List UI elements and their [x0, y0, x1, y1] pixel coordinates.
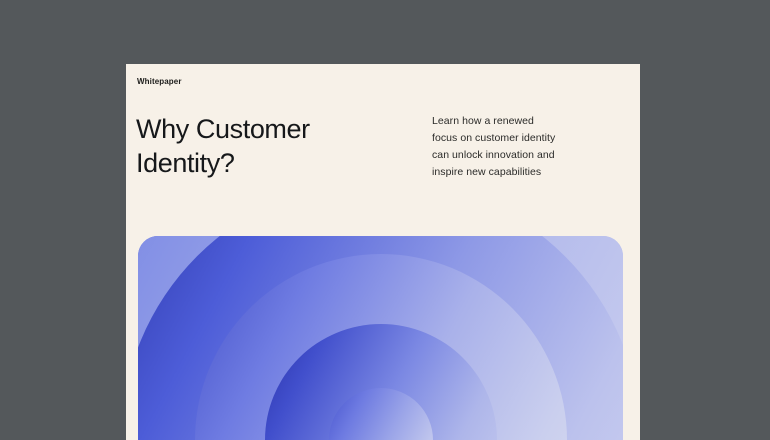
subtitle-text: Learn how a renewed focus on customer id… [432, 113, 584, 181]
concentric-rings-graphic [138, 236, 623, 440]
page-root: Whitepaper Why Customer Identity? Learn … [0, 0, 770, 440]
card-header: Whitepaper Why Customer Identity? Learn … [126, 64, 640, 236]
whitepaper-cover-card[interactable]: Whitepaper Why Customer Identity? Learn … [126, 64, 640, 440]
page-title: Why Customer Identity? [136, 113, 416, 180]
eyebrow-label: Whitepaper [137, 77, 182, 86]
